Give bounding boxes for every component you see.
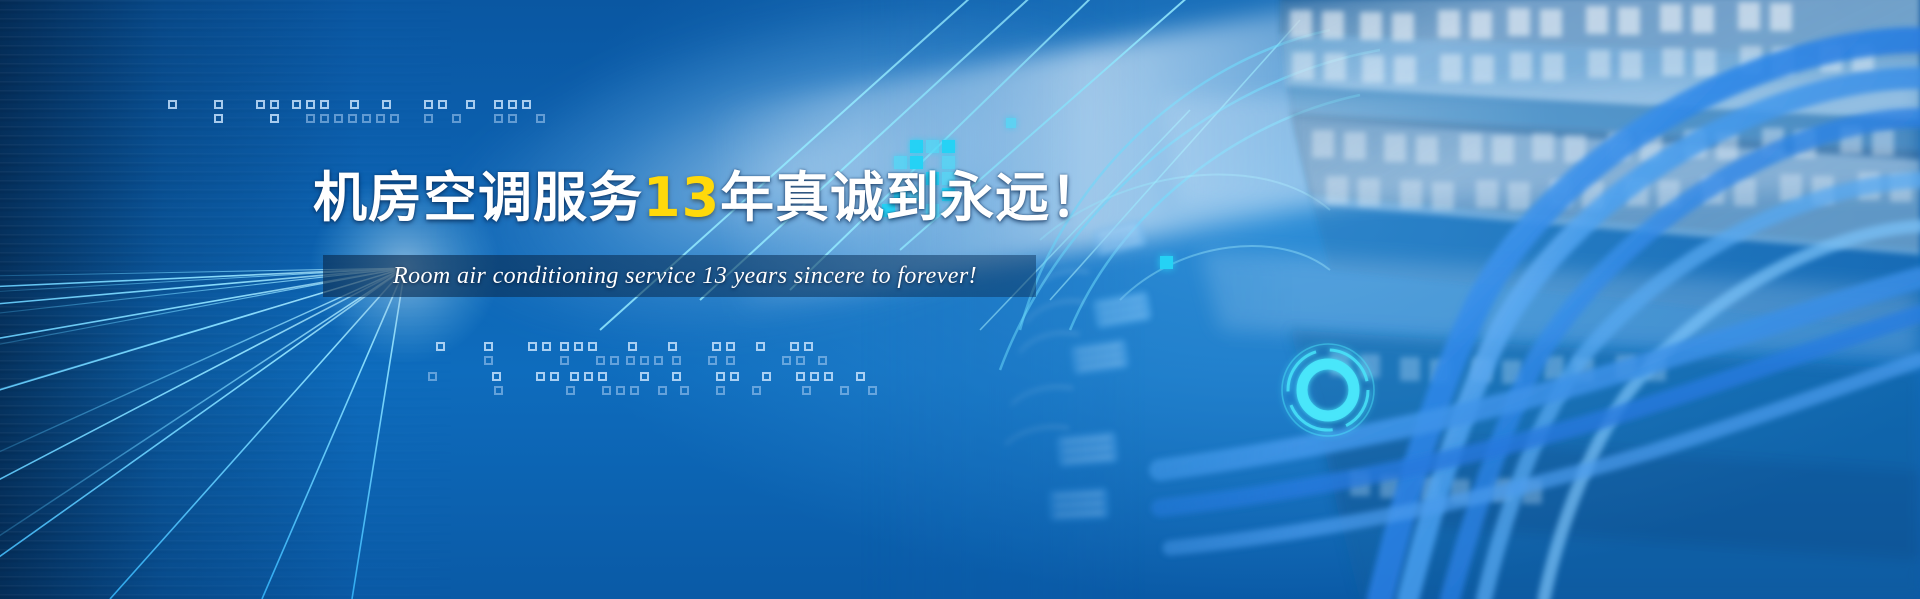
tech-ring-icon — [1268, 330, 1388, 450]
datacenter-photo — [860, 0, 1920, 599]
subtitle: Room air conditioning service 13 years s… — [340, 256, 1030, 296]
headline: 机房空调服务13年真诚到永远！ — [313, 168, 1105, 228]
headline-after: 年真诚到永远！ — [720, 166, 1105, 229]
cyan-pixel-accent-small — [1006, 118, 1016, 128]
pixel-pattern-top — [0, 96, 620, 132]
cyan-pixel-accent — [1160, 256, 1173, 269]
headline-before: 机房空调服务 — [313, 166, 643, 229]
headline-highlight: 13 — [643, 166, 720, 229]
promo-banner: 机房空调服务13年真诚到永远！ Room air conditioning se… — [0, 0, 1920, 599]
pixel-pattern-bottom-b — [0, 364, 920, 412]
